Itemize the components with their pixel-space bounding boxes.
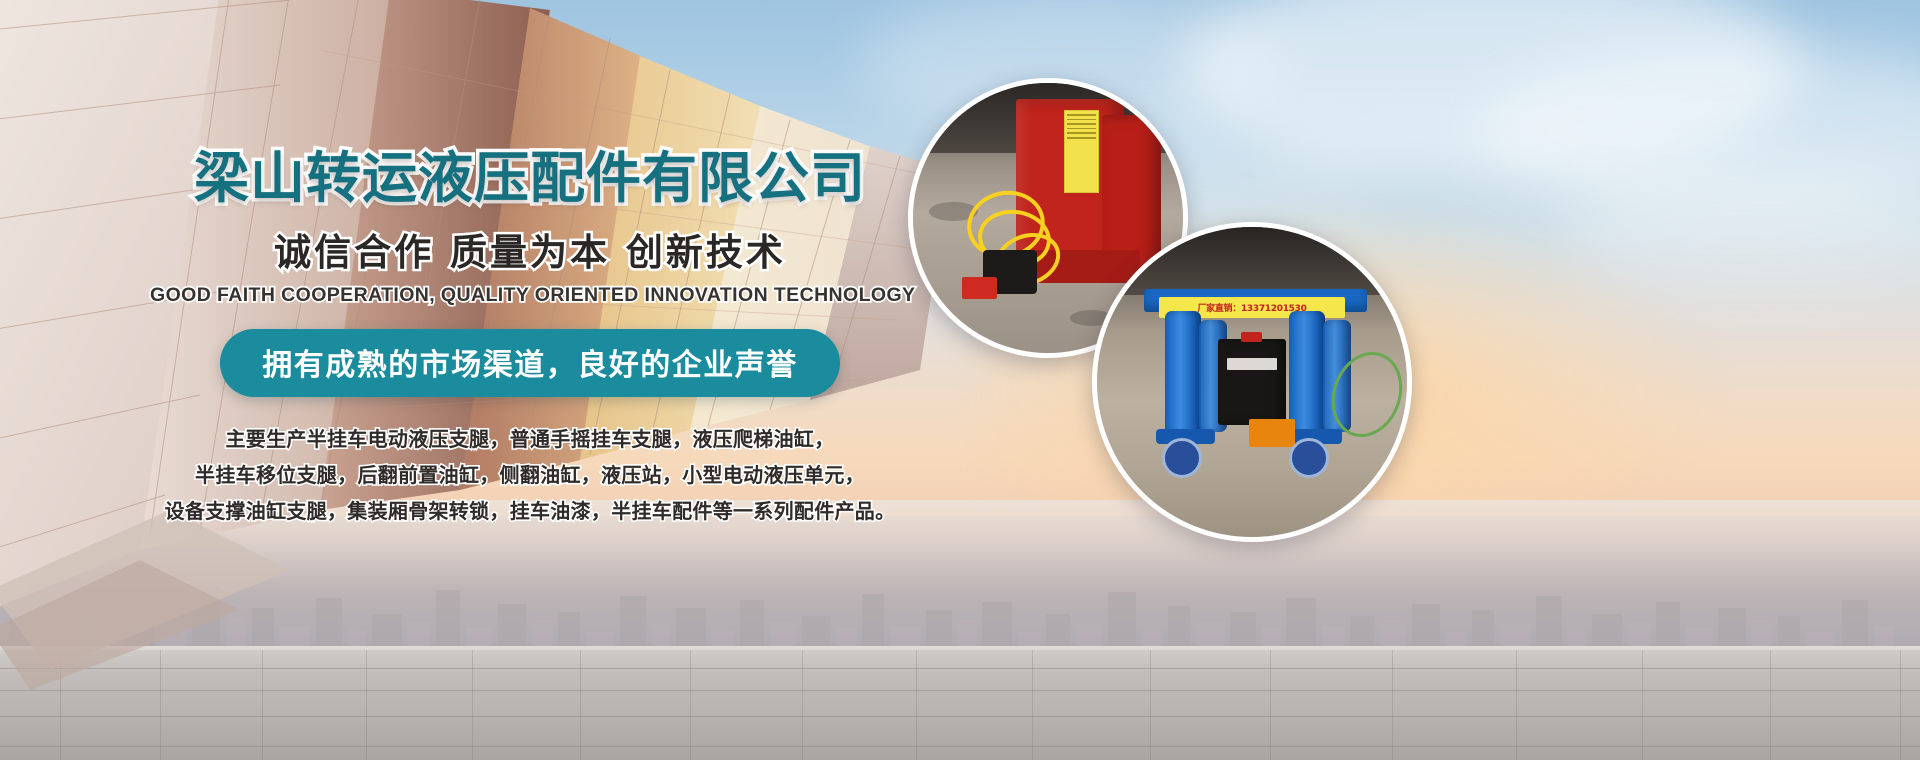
highlight-pill-text: 拥有成熟的市场渠道，良好的企业声誉: [262, 348, 798, 383]
product-photo-blue[interactable]: 厂家直销：13371201530: [1092, 222, 1412, 542]
company-title: 梁山转运液压配件有限公司: [150, 150, 910, 208]
english-tagline: GOOD FAITH COOPERATION, QUALITY ORIENTED…: [150, 284, 910, 307]
banner-subtitle: 诚信合作 质量为本 创新技术: [150, 222, 910, 276]
description-line: 半挂车移位支腿，后翻前置油缸，侧翻油缸，液压站，小型电动液压单元，: [150, 459, 910, 488]
description-line: 设备支撑油缸支腿，集装厢骨架转锁，挂车油漆，半挂车配件等一系列配件产品。: [150, 495, 910, 524]
warning-label: [1064, 110, 1098, 193]
description-block: 主要生产半挂车电动液压支腿，普通手摇挂车支腿，液压爬梯油缸， 半挂车移位支腿，后…: [150, 423, 910, 524]
highlight-pill: 拥有成熟的市场渠道，良好的企业声誉: [220, 329, 840, 397]
hero-banner: 厂家直销：13371201530 梁山转运液压配件有限公司 诚信合作 质量为本 …: [0, 0, 1920, 760]
banner-text-block: 梁山转运液压配件有限公司 诚信合作 质量为本 创新技术 GOOD FAITH C…: [150, 150, 910, 531]
description-line: 主要生产半挂车电动液压支腿，普通手摇挂车支腿，液压爬梯油缸，: [150, 423, 910, 452]
